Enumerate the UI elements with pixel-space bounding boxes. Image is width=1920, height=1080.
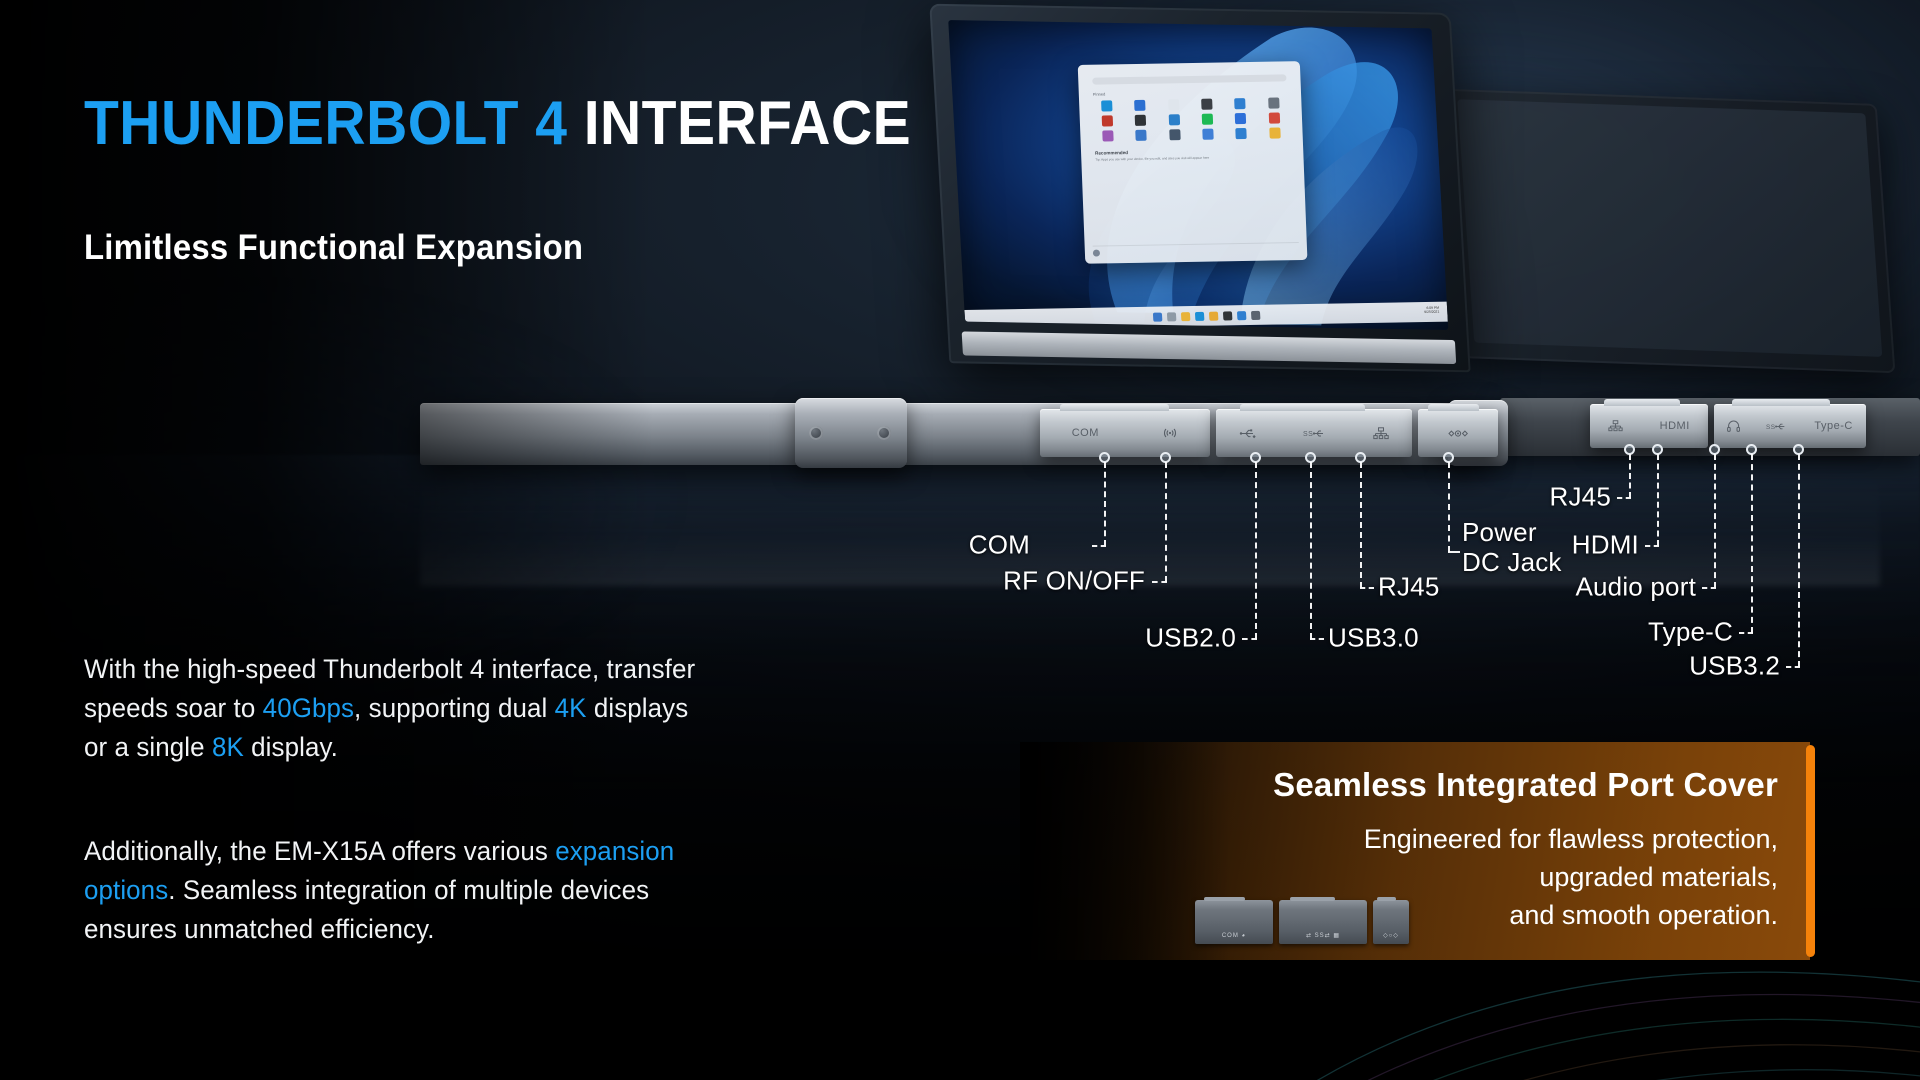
svg-text:SS: SS bbox=[1303, 431, 1313, 438]
app-tile[interactable] bbox=[1125, 100, 1157, 112]
app-tile[interactable] bbox=[1158, 99, 1190, 111]
taskbar-edge-icon[interactable] bbox=[1194, 311, 1204, 320]
callout-label-audio: Audio port bbox=[1575, 572, 1696, 603]
solitaire-icon bbox=[1169, 114, 1180, 125]
panel-title: Seamless Integrated Port Cover bbox=[1273, 766, 1778, 804]
hinge-screw-icon bbox=[809, 426, 823, 440]
rf-antenna-icon bbox=[1162, 427, 1178, 439]
thumb-icon-group-2: ⇄ SS⇄ ▦ bbox=[1279, 932, 1367, 939]
taskbar-store-icon[interactable] bbox=[1208, 311, 1218, 320]
taskbar-settings-icon[interactable] bbox=[1250, 310, 1260, 319]
svg-text:SS: SS bbox=[1766, 423, 1775, 430]
app-tile[interactable] bbox=[1226, 128, 1258, 140]
port-cover-panel-4[interactable]: HDMI bbox=[1590, 404, 1708, 448]
taskbar-mail-icon[interactable] bbox=[1236, 311, 1246, 320]
settings-icon bbox=[1268, 98, 1279, 109]
panel-body-line1: Engineered for flawless protection, bbox=[1364, 820, 1778, 858]
app-tile[interactable] bbox=[1093, 130, 1125, 142]
clock-date: 9/25/2021 bbox=[1424, 310, 1439, 315]
body-paragraph-2: Additionally, the EM-X15A offers various… bbox=[84, 832, 698, 949]
lan-ethernet-icon bbox=[1373, 427, 1389, 440]
start-pinned-label: Pinned bbox=[1093, 89, 1287, 97]
callout-leader-rj45-right-h bbox=[1617, 497, 1631, 499]
callout-label-usb30: USB3.0 bbox=[1328, 623, 1419, 654]
title-highlight: THUNDERBOLT 4 bbox=[84, 89, 567, 158]
dc-power-icon bbox=[1445, 428, 1471, 439]
thumb-icon-group-1: COM ◕ bbox=[1195, 933, 1273, 939]
port-cover-panel-3[interactable] bbox=[1418, 409, 1498, 457]
laptop-lid: Pinned bbox=[929, 4, 1470, 373]
panel-body-line2: upgraded materials, bbox=[1364, 858, 1778, 896]
callout-label-power-line1: Power bbox=[1462, 517, 1562, 547]
laptop-screen: Pinned bbox=[948, 20, 1448, 330]
port-cover-panel-2[interactable]: SS bbox=[1216, 409, 1412, 457]
type-c-port-icon: Type-C bbox=[1814, 420, 1852, 432]
callout-leader-rf bbox=[1165, 462, 1167, 582]
callout-leader-typec-h bbox=[1739, 632, 1753, 634]
headphone-audio-icon bbox=[1727, 420, 1740, 432]
callout-leader-rj45-right bbox=[1629, 454, 1631, 498]
panel-body: Engineered for flawless protection, upgr… bbox=[1364, 820, 1778, 934]
secondary-laptop-panel bbox=[1457, 99, 1882, 357]
callout-label-typec: Type-C bbox=[1648, 617, 1733, 648]
callout-label-power: Power DC Jack bbox=[1462, 517, 1562, 577]
edge-icon bbox=[1102, 101, 1113, 112]
office-icon bbox=[1102, 116, 1113, 127]
body-paragraph-1: With the high-speed Thunderbolt 4 interf… bbox=[84, 650, 698, 767]
callout-leader-hdmi bbox=[1657, 454, 1659, 546]
app-tile[interactable] bbox=[1258, 98, 1290, 110]
app-tile[interactable] bbox=[1159, 129, 1191, 141]
hinge-barrel bbox=[795, 398, 907, 468]
port-cover-thumb-3: ◇○◇ bbox=[1373, 900, 1409, 944]
callout-label-com: COM bbox=[969, 530, 1030, 561]
p1-accent-4k: 4K bbox=[555, 693, 587, 723]
callout-label-rj45-right: RJ45 bbox=[1550, 482, 1612, 513]
start-menu[interactable]: Pinned bbox=[1078, 61, 1307, 264]
clipchamp-icon bbox=[1169, 129, 1180, 140]
app-tile[interactable] bbox=[1259, 128, 1291, 140]
port-cover-thumb-1: COM ◕ bbox=[1195, 900, 1273, 944]
store-icon bbox=[1201, 99, 1212, 110]
start-search-box[interactable] bbox=[1093, 75, 1287, 85]
taskbar-xbox-icon[interactable] bbox=[1222, 311, 1232, 320]
callout-leader-usb32-h bbox=[1786, 666, 1800, 668]
file-explorer-icon bbox=[1269, 128, 1280, 139]
panel-body-line3: and smooth operation. bbox=[1364, 896, 1778, 934]
app-tile[interactable] bbox=[1092, 115, 1124, 127]
taskbar-clock[interactable]: 6:09 PM 9/25/2021 bbox=[1424, 306, 1440, 315]
calculator-icon bbox=[1136, 130, 1147, 141]
callout-label-rf: RF ON/OFF bbox=[1003, 566, 1145, 597]
callout-leader-usb30 bbox=[1310, 462, 1312, 639]
p1-accent-8k: 8K bbox=[212, 732, 244, 762]
superspeed-usb-icon: SS bbox=[1303, 428, 1327, 439]
callout-leader-usb20-h bbox=[1242, 638, 1257, 640]
superspeed-usb-icon: SS bbox=[1766, 421, 1788, 432]
hinge-screw-icon bbox=[877, 426, 891, 440]
app-tile[interactable] bbox=[1126, 130, 1158, 142]
lan-ethernet-icon bbox=[1608, 420, 1623, 432]
callout-leader-rf-h bbox=[1152, 581, 1167, 583]
spotify-icon bbox=[1202, 114, 1213, 125]
secondary-laptop-lid bbox=[1445, 89, 1896, 373]
app-tile[interactable] bbox=[1192, 129, 1224, 141]
start-menu-footer bbox=[1093, 243, 1299, 258]
app-tile[interactable] bbox=[1159, 114, 1191, 126]
callout-leader-usb20 bbox=[1255, 462, 1257, 639]
paint-icon bbox=[1103, 131, 1114, 142]
callout-leader-com-h bbox=[1092, 545, 1106, 547]
recommended-hint: Tip: Apps you use with your device, file… bbox=[1096, 155, 1290, 163]
callout-label-usb20: USB2.0 bbox=[1145, 623, 1236, 654]
callout-leader-power bbox=[1448, 462, 1450, 552]
taskbar-search-icon[interactable] bbox=[1166, 312, 1176, 321]
p2-seg2: . Seamless integration of multiple devic… bbox=[84, 875, 649, 944]
thumb-icon-group-3: ◇○◇ bbox=[1373, 932, 1409, 939]
todo-icon bbox=[1235, 113, 1246, 124]
notepad-icon bbox=[1203, 129, 1214, 140]
page-title: THUNDERBOLT 4 INTERFACE bbox=[84, 93, 911, 155]
p2-seg1: Additionally, the EM-X15A offers various bbox=[84, 836, 555, 866]
callout-leader-hdmi-h bbox=[1645, 545, 1659, 547]
laptop-chin bbox=[962, 331, 1457, 364]
xbox-icon bbox=[1135, 115, 1146, 126]
callout-label-usb32: USB3.2 bbox=[1689, 651, 1780, 682]
p1-accent-speed: 40Gbps bbox=[263, 693, 354, 723]
port-cover-callout-panel: Seamless Integrated Port Cover Engineere… bbox=[1020, 742, 1810, 960]
panel-accent-bar bbox=[1806, 745, 1815, 957]
callout-label-power-line2: DC Jack bbox=[1462, 547, 1562, 577]
avatar[interactable] bbox=[1093, 250, 1100, 257]
app-tile[interactable] bbox=[1191, 99, 1223, 111]
callout-leader-com bbox=[1104, 462, 1106, 546]
taskbar-explorer-icon[interactable] bbox=[1180, 312, 1190, 321]
callout-leader-audio bbox=[1714, 454, 1716, 588]
callout-leader-audio-h bbox=[1702, 587, 1716, 589]
callout-leader-usb32 bbox=[1798, 454, 1800, 667]
p1-seg4: display. bbox=[244, 732, 338, 762]
app-tile[interactable] bbox=[1192, 114, 1224, 126]
port-cover-panel-1[interactable]: COM bbox=[1040, 409, 1210, 457]
callout-leader-rj45-left-h bbox=[1360, 587, 1374, 589]
app-tile[interactable] bbox=[1125, 115, 1157, 127]
clock-icon bbox=[1269, 113, 1280, 124]
callout-leader-rj45-left bbox=[1360, 462, 1362, 588]
mail-icon bbox=[1135, 100, 1146, 111]
callout-leader-usb30-h bbox=[1310, 638, 1324, 640]
app-tile[interactable] bbox=[1258, 113, 1290, 125]
p1-seg2: , supporting dual bbox=[354, 693, 555, 723]
callout-leader-power-h bbox=[1448, 551, 1460, 553]
callout-label-hdmi: HDMI bbox=[1572, 530, 1639, 561]
calendar-icon bbox=[1168, 99, 1179, 110]
xbox-alt-icon bbox=[1236, 128, 1247, 139]
title-rest: INTERFACE bbox=[567, 89, 911, 158]
port-cover-panel-5[interactable]: SS Type-C bbox=[1714, 404, 1866, 448]
start-app-grid[interactable] bbox=[1087, 97, 1294, 142]
page-subtitle: Limitless Functional Expansion bbox=[84, 228, 583, 268]
callout-leader-typec bbox=[1751, 454, 1753, 633]
hdmi-port-icon: HDMI bbox=[1660, 420, 1690, 432]
slide-canvas: Pinned bbox=[0, 0, 1920, 1080]
usb-icon bbox=[1239, 428, 1257, 439]
app-tile[interactable] bbox=[1225, 113, 1257, 125]
taskbar-start-icon[interactable] bbox=[1152, 312, 1162, 321]
port-cover-thumb-2: ⇄ SS⇄ ▦ bbox=[1279, 900, 1367, 944]
port-cover-thumbnails: COM ◕ ⇄ SS⇄ ▦ ◇○◇ bbox=[1195, 900, 1409, 944]
com-port-icon: COM bbox=[1072, 427, 1099, 439]
app-tile[interactable] bbox=[1091, 100, 1123, 112]
app-tile[interactable] bbox=[1225, 98, 1257, 110]
callout-label-rj45-left: RJ45 bbox=[1378, 572, 1440, 603]
photos-icon bbox=[1235, 98, 1246, 109]
